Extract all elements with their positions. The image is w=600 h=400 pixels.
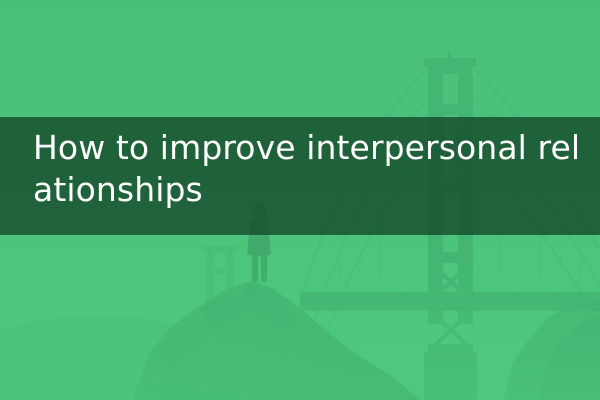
page-title: How to improve interpersonal relationshi… bbox=[33, 127, 581, 211]
atmospheric-haze bbox=[0, 250, 600, 400]
banner-image-canvas: How to improve interpersonal relationshi… bbox=[0, 0, 600, 400]
